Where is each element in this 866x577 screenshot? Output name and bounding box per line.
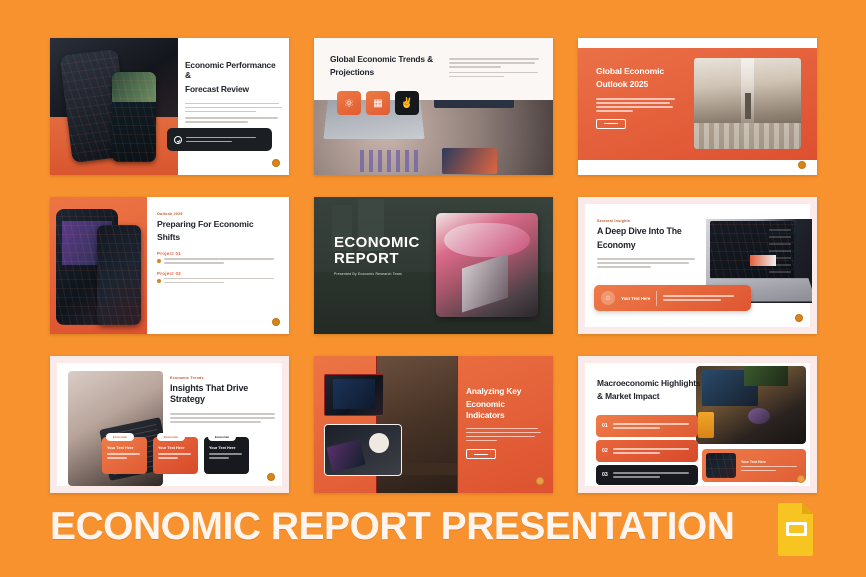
- slide-corner-dot: [272, 318, 280, 326]
- slide5-title: ECONOMIC REPORT: [334, 235, 434, 267]
- slide7-card-1[interactable]: Economic Your Text Here: [102, 437, 147, 474]
- slide7-card-2-heading: Your Text Here: [158, 446, 193, 450]
- slide6-banner-label: Your Text Here: [621, 296, 650, 301]
- slide2-title: Global Economic Trends & Projections: [330, 54, 440, 78]
- slide7-card-3-tag: Economic: [215, 435, 229, 439]
- phone-mockup-trading-app: [50, 38, 178, 175]
- bar-chart-icon[interactable]: ▦: [366, 91, 390, 115]
- slide7-body: [170, 413, 276, 423]
- user-badge-icon: ☺: [601, 291, 615, 305]
- slide6-title: A Deep Dive Into The Economy: [597, 226, 697, 250]
- handshake-icon[interactable]: ✌: [395, 91, 419, 115]
- slide-corner-dot: [536, 477, 544, 485]
- slide-thumbnail-preparing-for-economic-shifts[interactable]: Outlook 2025 Preparing For Economic Shif…: [50, 197, 289, 334]
- slide-corner-dot: [797, 475, 805, 483]
- slide7-card-3-heading: Your Text Here: [209, 446, 244, 450]
- slide-thumbnail-global-economic-outlook-2025[interactable]: Global Economic Outlook 2025: [578, 38, 817, 175]
- slide1-body: [185, 103, 283, 123]
- slide8-body: [466, 428, 544, 442]
- slide3-body: [596, 98, 680, 112]
- slide-thumbnail-insights-that-drive-strategy[interactable]: Economic Trends Insights That Drive Stra…: [50, 356, 289, 493]
- person-at-multi-monitor-desk: [696, 366, 806, 444]
- slide9-title: Macroeconomic Highlights & Market Impact: [597, 378, 701, 402]
- slide-thumbnail-analyzing-key-economic-indicators[interactable]: Analyzing Key Economic Indicators: [314, 356, 553, 493]
- hand-with-phone-coffee: [324, 424, 402, 476]
- slide-corner-dot: [272, 159, 280, 167]
- slide9-item-03-number: 03: [602, 472, 608, 478]
- bullet-dot: [157, 259, 161, 263]
- slide4-title: Preparing For Economic Shifts: [157, 219, 279, 243]
- dark-chart-thumbnail: [706, 453, 736, 478]
- hand-with-phone-trading: [324, 374, 384, 416]
- slide7-title: Insights That Drive Strategy: [170, 383, 276, 405]
- atom-network-icon[interactable]: ⚛: [337, 91, 361, 115]
- bullet-dot: [157, 279, 161, 283]
- slide4-eyebrow: Outlook 2025: [157, 212, 279, 216]
- list-item: Project 02: [157, 271, 279, 284]
- slide8-see-more-button[interactable]: [466, 449, 496, 459]
- slide8-title: Analyzing Key Economic Indicators: [466, 386, 544, 420]
- slide9-item-02-number: 02: [602, 448, 608, 454]
- phone-mockup-candlestick-chart: [97, 225, 141, 325]
- slide-corner-dot: [798, 161, 806, 169]
- slide1-callout: [167, 128, 272, 151]
- slide7-card-3[interactable]: Economic Your Text Here: [204, 437, 249, 474]
- slide-thumbnail-economic-report-cover[interactable]: ECONOMIC REPORT Presented By Economic Re…: [314, 197, 553, 334]
- slide1-title: Economic Performance & Forecast Review: [185, 60, 283, 94]
- slide9-item-03[interactable]: 03: [596, 465, 698, 485]
- slide-corner-dot: [795, 314, 803, 322]
- slide9-item-01-number: 01: [602, 423, 608, 429]
- slide3-title: Global Economic Outlook 2025: [596, 66, 680, 90]
- slide-thumbnail-a-deep-dive-into-the-economy[interactable]: Sectoral Insights A Deep Dive Into The E…: [578, 197, 817, 334]
- slide7-card-2[interactable]: Economic Your Text Here: [153, 437, 198, 474]
- slide6-eyebrow: Sectoral Insights: [597, 219, 697, 223]
- modern-mall-atrium: [436, 213, 538, 317]
- slide9-item-01[interactable]: 01: [596, 415, 698, 437]
- list-item: Project 01: [157, 251, 279, 264]
- slide7-card-2-tag: Economic: [164, 435, 178, 439]
- slide-corner-dot: [267, 473, 275, 481]
- slide-thumbnail-grid: Economic Performance & Forecast Review: [50, 38, 816, 493]
- page-title: ECONOMIC REPORT PRESENTATION: [50, 505, 734, 549]
- check-circle-icon: [174, 136, 182, 144]
- slide5-subtitle: Presented By Economic Research Team: [334, 272, 434, 276]
- slide6-banner: ☺ Your Text Here: [594, 285, 751, 311]
- shopping-arcade-interior: [694, 58, 801, 149]
- slide4-image-panel: [50, 197, 147, 334]
- slide-thumbnail-global-economic-trends-projections[interactable]: Global Economic Trends & Projections ⚛ ▦…: [314, 38, 553, 175]
- slide2-body: [449, 58, 541, 80]
- slide7-eyebrow: Economic Trends: [170, 376, 276, 380]
- slide9-item-02[interactable]: 02: [596, 440, 698, 462]
- slide7-card-1-heading: Your Text Here: [107, 446, 142, 450]
- google-slides-logo: [774, 501, 819, 556]
- slide9-side-card[interactable]: Your Text Here: [702, 449, 806, 482]
- slide6-body: [597, 258, 697, 268]
- slide7-card-1-tag: Economic: [113, 435, 127, 439]
- slide-thumbnail-macroeconomic-highlights-market-impact[interactable]: Macroeconomic Highlights & Market Impact…: [578, 356, 817, 493]
- slide9-side-card-heading: Your Text Here: [741, 460, 802, 464]
- slide-thumbnail-economic-performance-forecast-review[interactable]: Economic Performance & Forecast Review: [50, 38, 289, 175]
- slide3-see-more-button[interactable]: [596, 119, 626, 129]
